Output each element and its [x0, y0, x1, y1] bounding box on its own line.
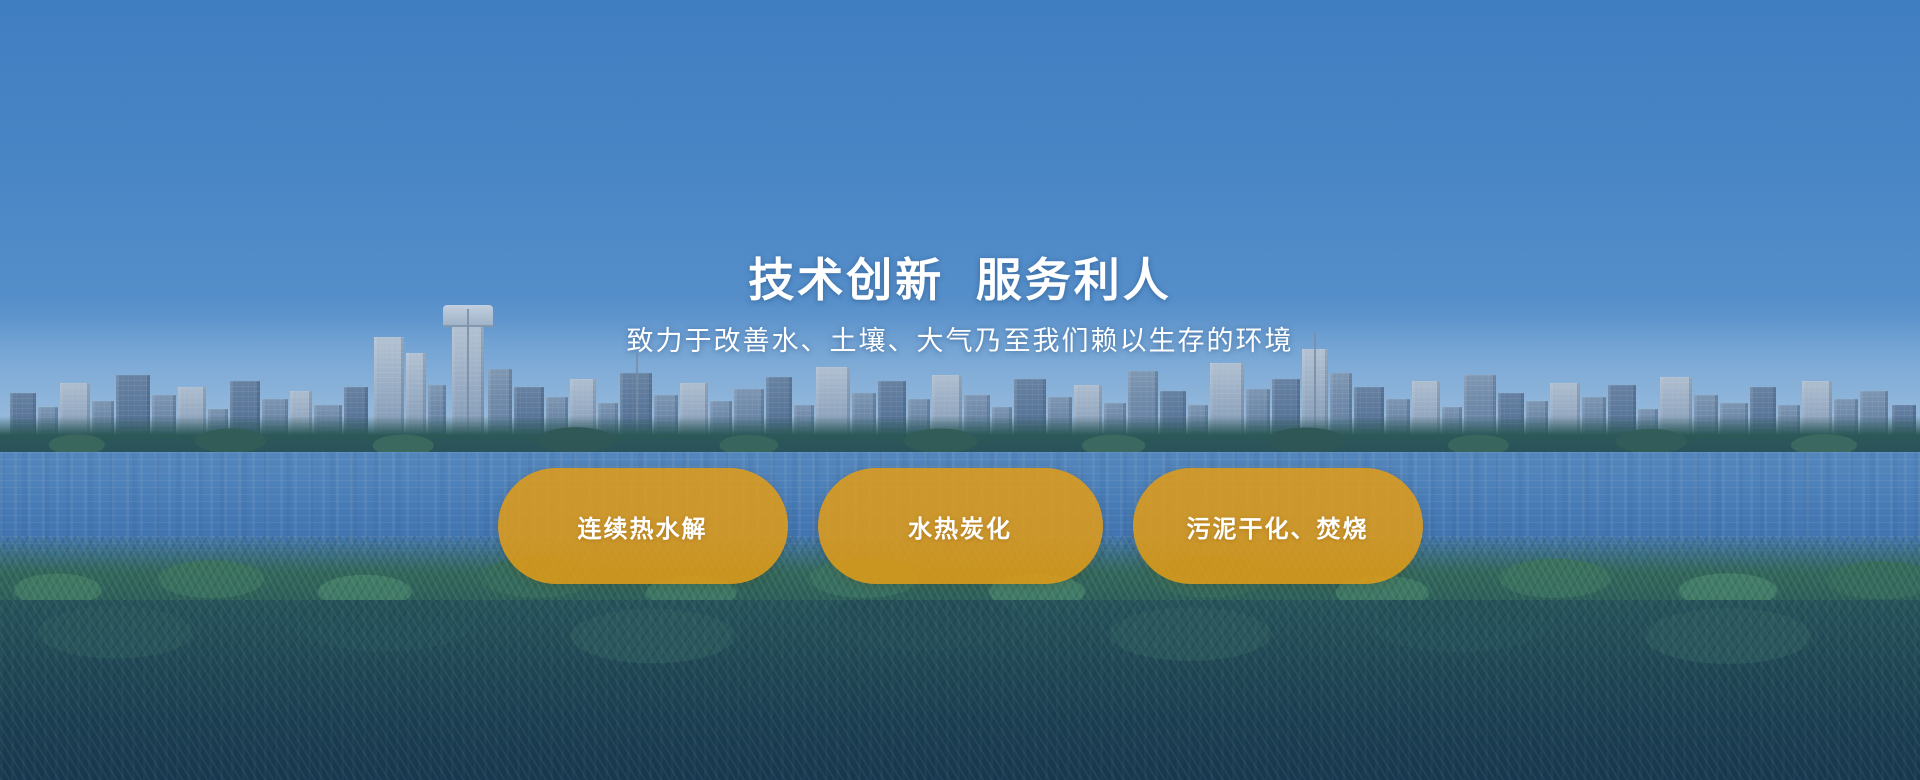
- foreground-mangrove-texture: [0, 600, 1920, 780]
- category-button-sludge-drying-incineration[interactable]: 污泥干化、焚烧: [1133, 468, 1423, 584]
- category-button-row: 连续热水解 水热炭化 污泥干化、焚烧: [0, 468, 1920, 584]
- hero-copy: 技术创新 服务利人 致力于改善水、土壤、大气乃至我们赖以生存的环境: [0, 252, 1920, 359]
- category-button-continuous-thermal-hydrolysis[interactable]: 连续热水解: [498, 468, 788, 584]
- hero-banner: 技术创新 服务利人 致力于改善水、土壤、大气乃至我们赖以生存的环境 连续热水解 …: [0, 0, 1920, 780]
- page-title: 技术创新 服务利人: [0, 252, 1920, 310]
- category-button-hydrothermal-carbonization[interactable]: 水热炭化: [818, 468, 1103, 584]
- far-tree-line: [0, 416, 1920, 456]
- page-subtitle: 致力于改善水、土壤、大气乃至我们赖以生存的环境: [0, 324, 1920, 359]
